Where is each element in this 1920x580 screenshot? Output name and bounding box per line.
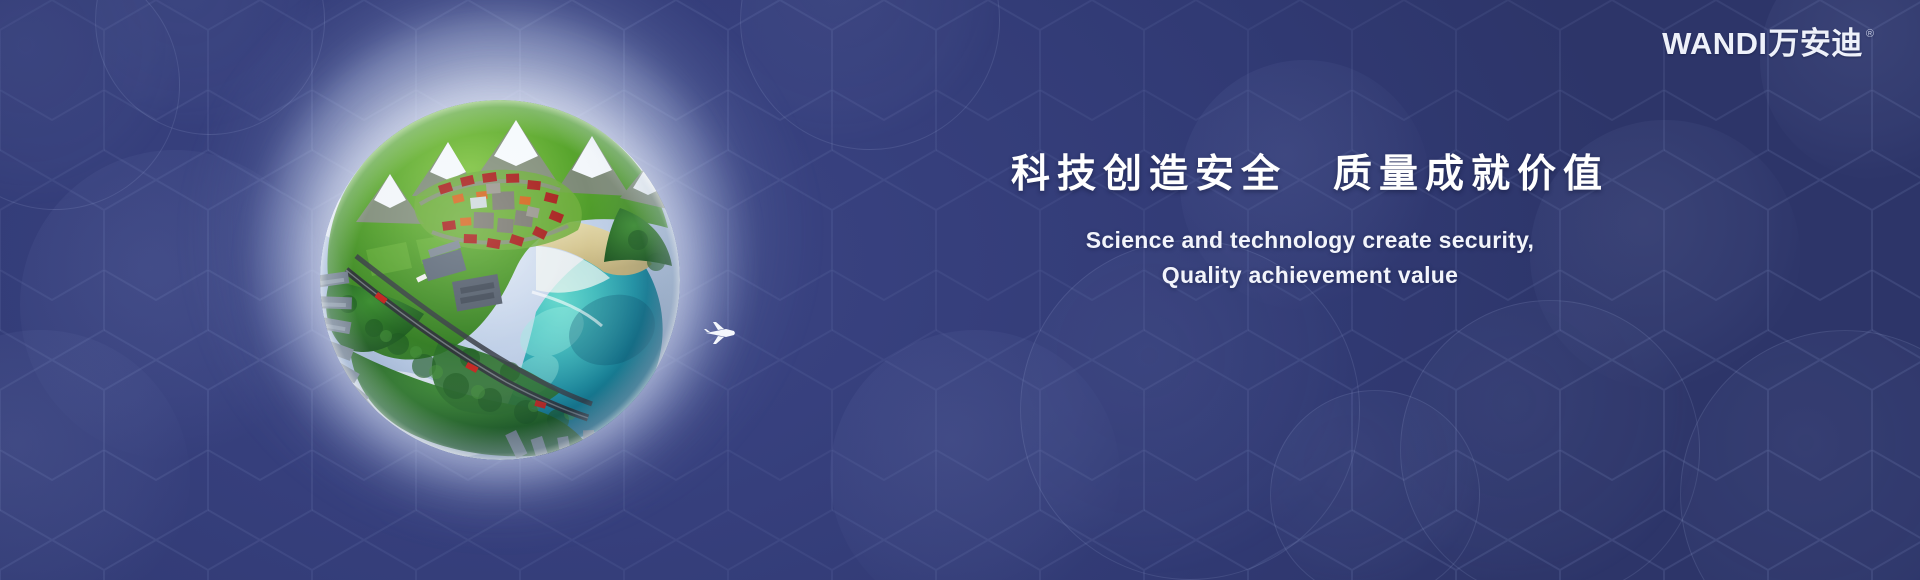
bokeh-circle [1400, 300, 1700, 580]
banner-copy: 科技创造安全 质量成就价值 Science and technology cre… [930, 150, 1690, 294]
bokeh-circle [830, 330, 1120, 580]
banner-subtitle: Science and technology create security, … [930, 223, 1690, 294]
tiny-planet [320, 100, 680, 460]
hero-banner: WANDI 万安迪 ® 科技创造安全 质量成就价值 Science and te… [0, 0, 1920, 580]
logo-chinese-name: 万安迪 [1768, 28, 1863, 59]
subtitle-line-1: Science and technology create security, [930, 223, 1690, 259]
bokeh-circle [1270, 390, 1480, 580]
subtitle-line-2: Quality achievement value [930, 258, 1690, 294]
registered-trademark-icon: ® [1866, 29, 1874, 40]
globe-image [300, 40, 700, 500]
page-title: 科技创造安全 质量成就价值 [930, 150, 1690, 201]
airplane-icon [704, 320, 738, 346]
bokeh-circle [0, 0, 180, 210]
company-logo[interactable]: WANDI 万安迪 ® [1662, 28, 1874, 59]
bokeh-circle [0, 330, 190, 580]
bokeh-circle [1680, 330, 1920, 580]
logo-wordmark: WANDI [1662, 28, 1767, 59]
